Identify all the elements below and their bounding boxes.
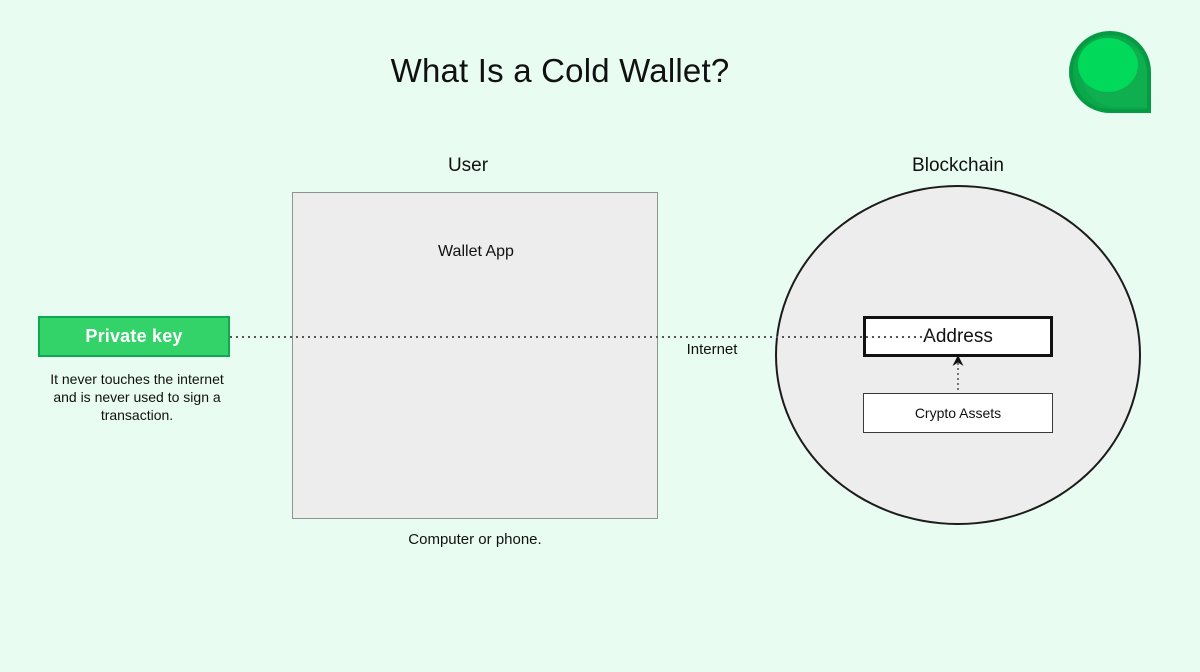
blockchain-section-heading: Blockchain [858, 155, 1058, 177]
internet-label: Internet [612, 341, 812, 358]
page-title: What Is a Cold Wallet? [0, 52, 1120, 90]
device-caption: Computer or phone. [292, 531, 658, 548]
crypto-assets-box: Crypto Assets [863, 393, 1053, 433]
diagram-canvas: What Is a Cold Wallet? User Blockchain W… [0, 0, 1200, 672]
private-key-caption: It never touches the internet and is nev… [44, 370, 230, 424]
wallet-app-box: Wallet App [292, 192, 658, 519]
dotted-up-arrow-icon [940, 355, 976, 395]
user-section-heading: User [368, 155, 568, 177]
wallet-app-label: Wallet App [293, 243, 659, 261]
internet-connection-line [230, 336, 934, 338]
private-key-box: Private key [38, 316, 230, 357]
green-droplet-logo-icon [1069, 31, 1151, 113]
